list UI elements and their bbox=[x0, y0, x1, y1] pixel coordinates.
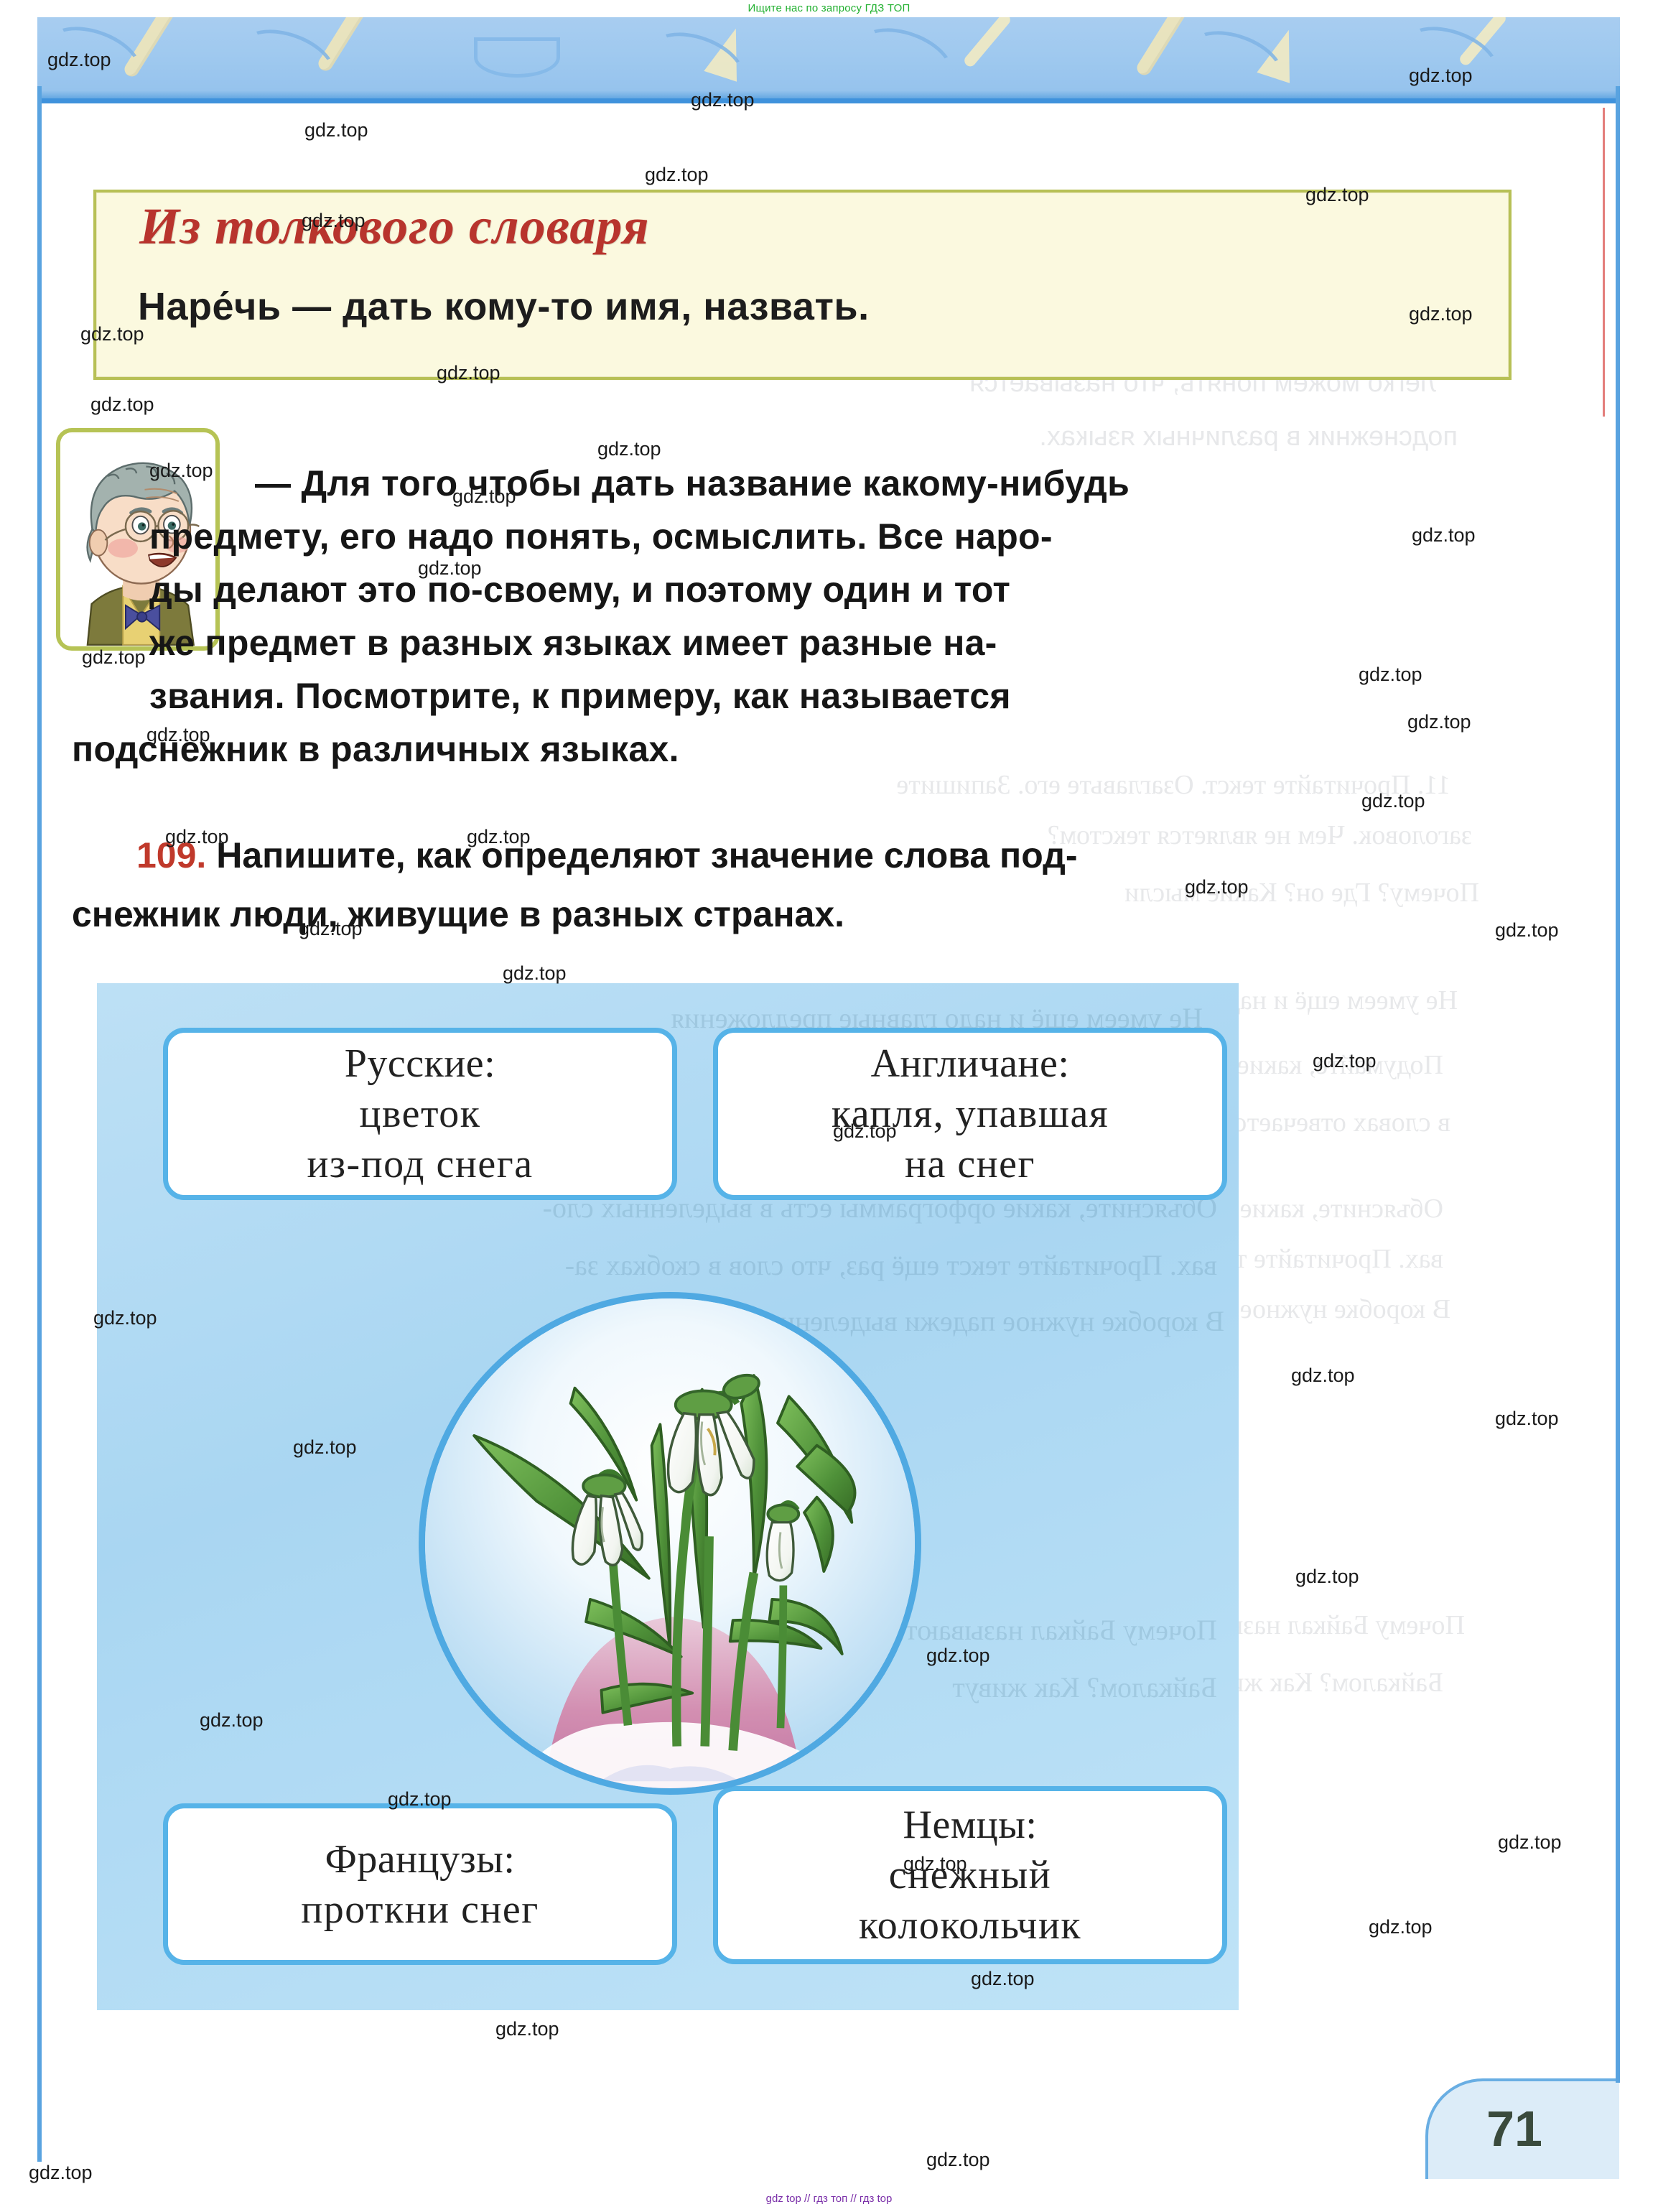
pencil-doodle-icon bbox=[1135, 17, 1193, 78]
card-heading: Русские: bbox=[345, 1038, 495, 1089]
site-top-banner: Ищите нас по запросу ГДЗ ТОП bbox=[0, 0, 1658, 17]
dictionary-title: Из толкового словаря bbox=[139, 197, 650, 256]
page-edge-left bbox=[0, 17, 37, 2179]
site-footer: gdz top // гдз топ // гдз top bbox=[0, 2186, 1658, 2212]
card-body-line: цветок bbox=[360, 1089, 481, 1139]
exercise-bold-word-part1: под- bbox=[1000, 835, 1077, 875]
card-heading: Немцы: bbox=[903, 1800, 1038, 1850]
decorative-header-strip bbox=[0, 17, 1637, 103]
snowdrop-illustration-circle bbox=[419, 1292, 921, 1795]
paragraph-line: подснежник в различных языках. bbox=[72, 722, 1422, 776]
page-rule-red bbox=[1603, 108, 1605, 417]
paragraph-line: предмету, его надо понять, осмыслить. Вс… bbox=[149, 510, 1422, 563]
paragraph-line: ды делают это по-своему, и поэтому один … bbox=[149, 563, 1422, 616]
exercise-109: 109. Напишите, как определяют значение с… bbox=[136, 829, 1429, 882]
page-number-tab: 71 bbox=[1425, 2078, 1619, 2179]
exercise-text-line2: люди, живущие в разных странах. bbox=[220, 894, 844, 934]
label-card-french: Французы: проткни снег bbox=[163, 1803, 677, 1965]
brush-doodle-icon bbox=[962, 17, 1012, 69]
swirl-doodle-icon bbox=[37, 17, 151, 103]
label-card-germans: Немцы: снежный колокольчик bbox=[713, 1786, 1227, 1964]
bleed-through-text: вах. Прочитайте текст ещё раз, что слов … bbox=[97, 1236, 1217, 1295]
snowdrop-flowers-icon bbox=[425, 1298, 915, 1788]
exercise-bold-word-part2: снежник bbox=[72, 894, 220, 934]
label-card-english: Англичане: капля, упавшая на снег bbox=[713, 1028, 1227, 1200]
page-rule-left bbox=[37, 86, 42, 2162]
dictionary-entry: Наре́чь — дать кому-то имя, назвать. bbox=[138, 284, 1488, 329]
card-body-line: колокольчик bbox=[859, 1900, 1081, 1951]
card-body-line: капля, упавшая bbox=[832, 1089, 1109, 1139]
exercise-text-line1: Напишите, как определяют значение слова bbox=[206, 835, 1000, 875]
paragraph-line: звания. Посмотрите, к примеру, как назыв… bbox=[149, 669, 1422, 722]
swirl-doodle-icon bbox=[848, 17, 962, 103]
dictionary-definition: — дать кому-то имя, назвать. bbox=[281, 285, 870, 328]
page-edge-right bbox=[1620, 17, 1658, 2179]
card-body-line: снежный bbox=[889, 1850, 1051, 1900]
exercise-109-line2: снежник люди, живущие в разных странах. bbox=[72, 888, 1422, 941]
page-number: 71 bbox=[1428, 2100, 1601, 2157]
card-heading: Англичане: bbox=[871, 1038, 1070, 1089]
card-heading: Французы: bbox=[325, 1834, 516, 1885]
label-card-russians: Русские: цветок из-под снега bbox=[163, 1028, 677, 1200]
professor-speech-paragraph: — Для того чтобы дать название какому-ни… bbox=[72, 457, 1422, 776]
activity-panel: Не умеем ещё и надо главные предложения … bbox=[97, 983, 1239, 2010]
dictionary-headword: Наре́чь bbox=[138, 285, 281, 328]
exercise-number: 109. bbox=[136, 835, 206, 875]
dictionary-callout-box: Из толкового словаря Наре́чь — дать кому… bbox=[93, 190, 1512, 380]
paragraph-line: же предмет в разных языках имеет разные … bbox=[149, 616, 1422, 669]
card-body-line: на снег bbox=[905, 1139, 1035, 1189]
textbook-page: Слова названия смысл имени слова, мы лег… bbox=[0, 17, 1637, 2179]
paragraph-line: — Для того чтобы дать название какому-ни… bbox=[255, 457, 1422, 510]
card-body-line: из-под снега bbox=[307, 1139, 533, 1189]
swirl-doodle-icon bbox=[230, 17, 345, 103]
card-body-line: проткни снег bbox=[301, 1885, 539, 1935]
book-doodle-icon bbox=[474, 37, 560, 78]
